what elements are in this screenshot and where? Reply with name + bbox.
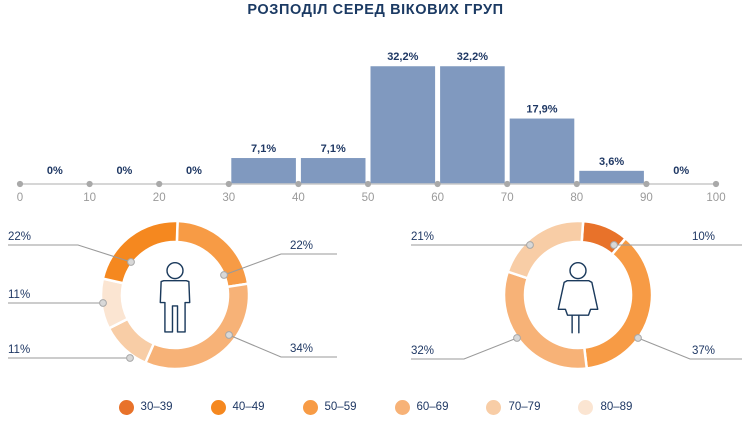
legend-item[interactable]: 50–59 xyxy=(303,400,357,415)
age-group-legend: 30–3940–4950–5960–6970–7980–89 xyxy=(0,392,751,422)
histogram-bar-value: 17,9% xyxy=(526,104,557,116)
x-axis-tick-label: 70 xyxy=(501,192,514,202)
histogram-svg: 0%0%0%7,1%7,1%32,2%32,2%17,9%3,6%0% 0102… xyxy=(0,22,751,202)
female-label-top-left: 21% xyxy=(411,231,434,243)
x-axis-tick-dot xyxy=(435,181,441,187)
female-label-top-right: 10% xyxy=(692,231,715,243)
histogram-bar xyxy=(510,119,575,184)
donut-segment xyxy=(103,221,178,283)
female-donut-chart: 21% 10% 32% 37% xyxy=(411,221,742,369)
legend-swatch-icon xyxy=(395,400,410,415)
x-axis-tick-label: 30 xyxy=(222,192,235,202)
x-axis-tick-label: 40 xyxy=(292,192,305,202)
legend-swatch-icon xyxy=(486,400,501,415)
male-label-bottom-right: 34% xyxy=(290,343,313,355)
histogram-bar-value: 32,2% xyxy=(457,51,488,63)
x-axis-tick-label: 100 xyxy=(706,192,725,202)
histogram-bar xyxy=(371,66,436,184)
leader-dot xyxy=(221,272,228,279)
male-donut-chart: 22% 22% 11% 11% 34% xyxy=(8,221,337,369)
male-label-top-left: 22% xyxy=(8,231,31,243)
leader-dot xyxy=(100,300,107,307)
histogram-bar xyxy=(579,171,644,184)
x-axis-tick-label: 0 xyxy=(17,192,23,202)
female-label-bottom-left: 32% xyxy=(411,345,434,357)
legend-item[interactable]: 60–69 xyxy=(395,400,449,415)
x-axis-tick-dot xyxy=(156,181,162,187)
legend-swatch-icon xyxy=(119,400,134,415)
legend-swatch-icon xyxy=(578,400,593,415)
x-axis-tick-label: 20 xyxy=(153,192,166,202)
histogram-bar-value: 0% xyxy=(116,165,132,177)
histogram-bars-group: 0%0%0%7,1%7,1%32,2%32,2%17,9%3,6%0% xyxy=(47,51,690,184)
histogram-bar-value: 0% xyxy=(47,165,63,177)
donut-segment xyxy=(504,272,587,369)
legend-item[interactable]: 40–49 xyxy=(211,400,265,415)
x-axis-tick-dot xyxy=(295,181,301,187)
legend-item[interactable]: 30–39 xyxy=(119,400,173,415)
male-donut-segments xyxy=(101,221,249,369)
x-axis-tick-label: 80 xyxy=(570,192,583,202)
histogram-bar-value: 32,2% xyxy=(387,51,418,63)
leader-dot xyxy=(226,332,233,339)
x-axis-tick-dot xyxy=(87,181,93,187)
histogram-axis-group: 0102030405060708090100 xyxy=(17,181,726,202)
leader-dot xyxy=(127,355,134,362)
x-axis-tick-dot xyxy=(713,181,719,187)
female-leader-21-topleft: 21% xyxy=(411,231,533,248)
histogram-bar-value: 0% xyxy=(186,165,202,177)
x-axis-tick-dot xyxy=(17,181,23,187)
legend-item-label: 70–79 xyxy=(508,401,540,413)
leader-dot xyxy=(611,242,618,249)
histogram-bar xyxy=(231,158,296,184)
donut-segment xyxy=(584,238,652,368)
female-leader-32-bottomleft: 32% xyxy=(411,335,520,359)
donuts-svg: 22% 22% 11% 11% 34% xyxy=(0,210,751,388)
histogram-bar-value: 7,1% xyxy=(321,143,346,155)
male-label-middle-left: 11% xyxy=(8,289,30,301)
age-distribution-histogram: 0%0%0%7,1%7,1%32,2%32,2%17,9%3,6%0% 0102… xyxy=(0,22,751,202)
x-axis-tick-label: 50 xyxy=(362,192,375,202)
donut-segment xyxy=(508,221,583,278)
leader-dot xyxy=(527,242,534,249)
legend-item[interactable]: 80–89 xyxy=(578,400,632,415)
male-leader-11-bottomleft: 11% xyxy=(8,344,133,361)
male-figure-icon xyxy=(160,263,189,332)
histogram-bar-value: 3,6% xyxy=(599,156,624,168)
female-figure-icon xyxy=(558,263,597,333)
male-leader-34-bottomright: 34% xyxy=(226,332,337,357)
legend-item-label: 60–69 xyxy=(417,401,449,413)
leader-dot xyxy=(635,335,642,342)
male-leader-11-middleleft: 11% xyxy=(8,289,106,306)
x-axis-tick-label: 10 xyxy=(83,192,96,202)
male-label-top-right: 22% xyxy=(290,240,313,252)
legend-item[interactable]: 70–79 xyxy=(486,400,540,415)
x-axis-tick-dot xyxy=(643,181,649,187)
histogram-bar xyxy=(440,66,505,184)
legend-swatch-icon xyxy=(303,400,318,415)
female-leader-37-bottomright: 37% xyxy=(635,335,742,359)
legend-item-label: 30–39 xyxy=(141,401,173,413)
female-label-bottom-right: 37% xyxy=(692,345,715,357)
female-donut-segments xyxy=(504,221,652,369)
histogram-bar-value: 7,1% xyxy=(251,143,276,155)
donut-segment xyxy=(177,221,248,287)
legend-item-label: 40–49 xyxy=(233,401,265,413)
x-axis-tick-label: 90 xyxy=(640,192,653,202)
x-axis-tick-dot xyxy=(574,181,580,187)
legend-item-label: 50–59 xyxy=(325,401,357,413)
histogram-bar-value: 0% xyxy=(673,165,689,177)
x-axis-tick-dot xyxy=(226,181,232,187)
male-label-bottom-left: 11% xyxy=(8,344,30,356)
leader-dot xyxy=(128,259,135,266)
legend-item-label: 80–89 xyxy=(600,401,632,413)
histogram-bar xyxy=(301,158,366,184)
leader-dot xyxy=(514,335,521,342)
legend-swatch-icon xyxy=(211,400,226,415)
x-axis-tick-label: 60 xyxy=(431,192,444,202)
gender-donut-charts: 22% 22% 11% 11% 34% xyxy=(0,210,751,388)
x-axis-tick-dot xyxy=(504,181,510,187)
x-axis-tick-dot xyxy=(365,181,371,187)
page-title: РОЗПОДІЛ СЕРЕД ВІКОВИХ ГРУП xyxy=(0,2,751,18)
